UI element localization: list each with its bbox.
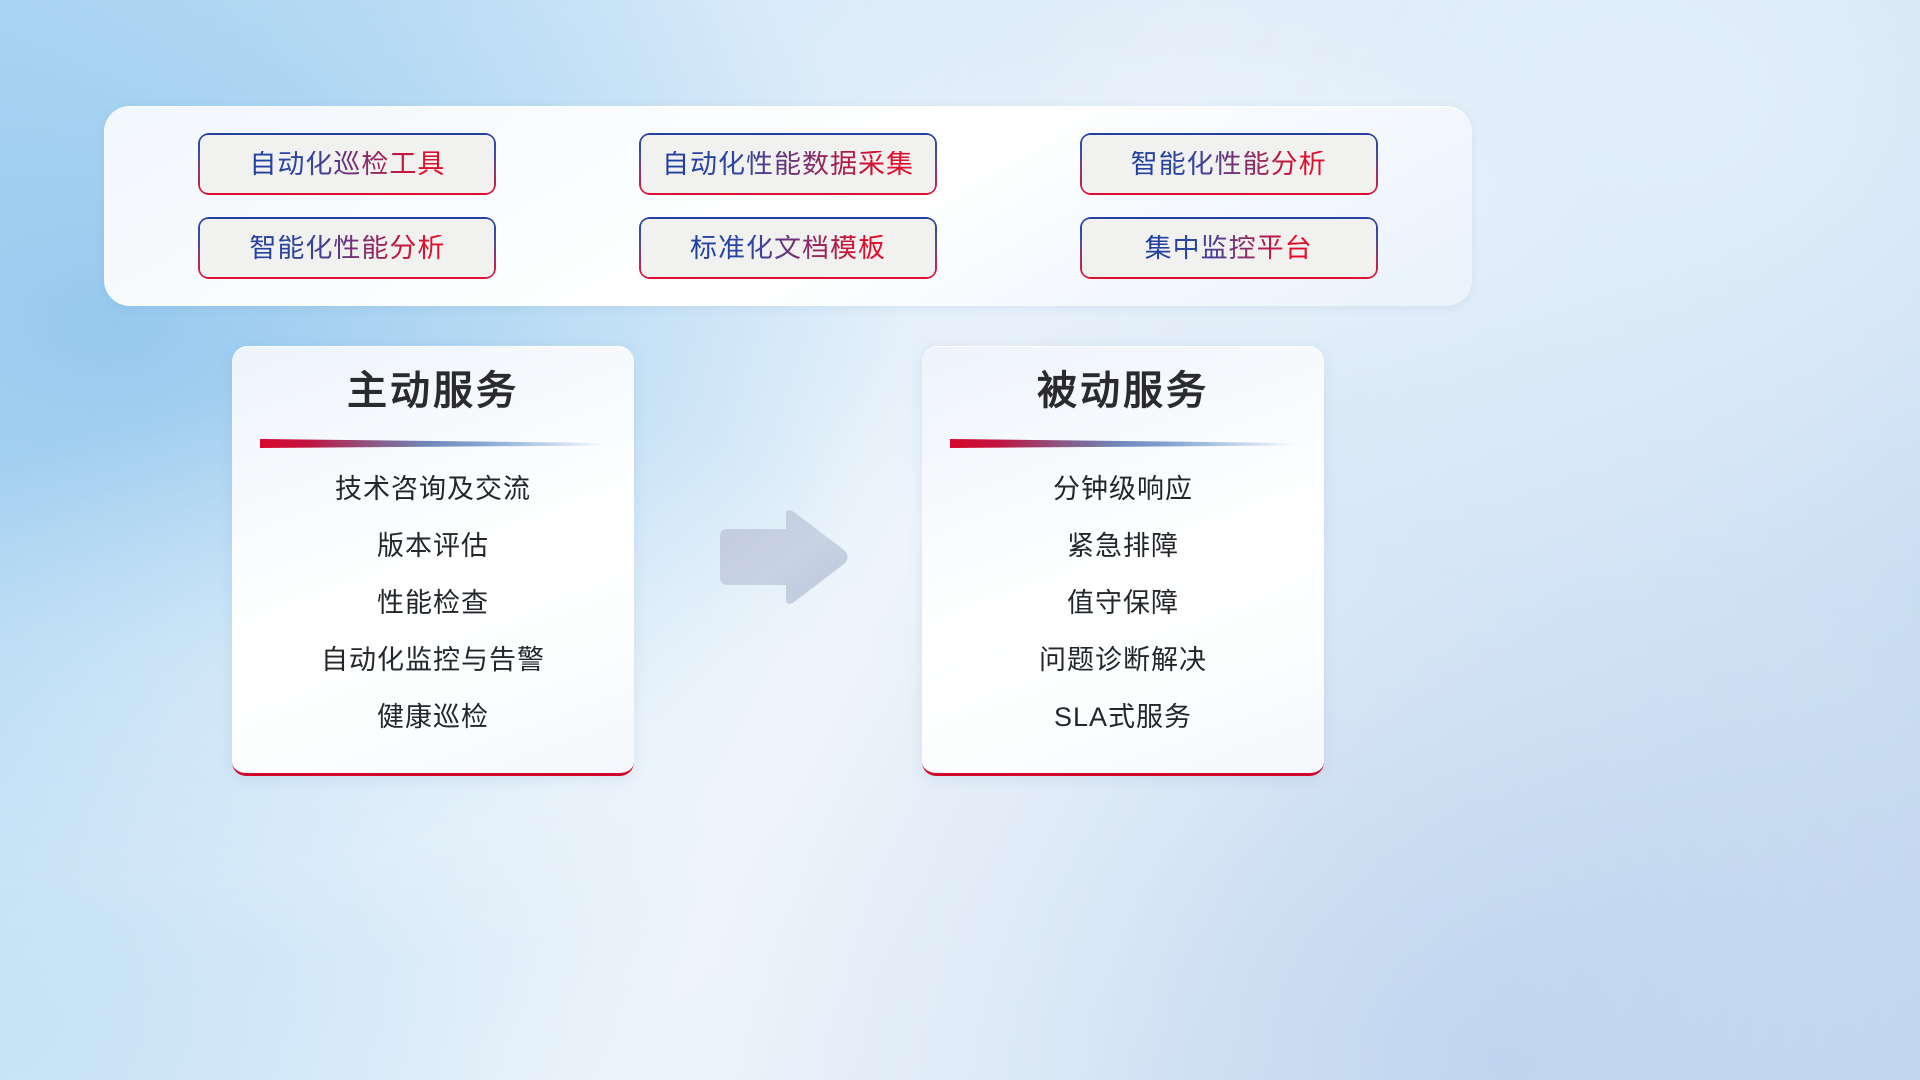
gradient-bar	[950, 439, 1296, 448]
list-item: 版本评估	[377, 533, 489, 560]
capability-pill-5[interactable]: 标准化文档模板	[641, 219, 935, 277]
service-card-reactive-divider	[950, 439, 1296, 448]
list-item: 技术咨询及交流	[335, 476, 531, 503]
capability-panel: 自动化巡检工具 自动化性能数据采集 智能化性能分析 智能化性能分析	[104, 106, 1472, 306]
capability-pill-5-label: 标准化文档模板	[690, 235, 886, 262]
service-card-proactive: 主动服务 技术咨询及交流 版本评估 性能检查 自动化监控与告警 健康巡检	[232, 346, 634, 776]
service-card-proactive-list: 技术咨询及交流 版本评估 性能检查 自动化监控与告警 健康巡检	[232, 476, 634, 731]
capability-pill-1[interactable]: 自动化巡检工具	[200, 135, 494, 193]
capability-pill-1-inner: 自动化巡检工具	[200, 135, 494, 193]
list-item: 自动化监控与告警	[321, 647, 545, 674]
infographic-canvas: 自动化巡检工具 自动化性能数据采集 智能化性能分析 智能化性能分析	[0, 0, 1920, 1080]
capability-pill-5-inner: 标准化文档模板	[641, 219, 935, 277]
capability-pill-2-label: 自动化性能数据采集	[662, 151, 914, 178]
service-card-reactive: 被动服务 分钟级响应 紧急排障 值守保障 问题诊断解决 SLA式服务	[922, 346, 1324, 776]
capability-pill-3[interactable]: 智能化性能分析	[1082, 135, 1376, 193]
list-item: 健康巡检	[377, 704, 489, 731]
service-card-reactive-list: 分钟级响应 紧急排障 值守保障 问题诊断解决 SLA式服务	[922, 476, 1324, 731]
list-item: 问题诊断解决	[1039, 647, 1207, 674]
list-item: 值守保障	[1067, 590, 1179, 617]
list-item: 紧急排障	[1067, 533, 1179, 560]
capability-pill-6[interactable]: 集中监控平台	[1082, 219, 1376, 277]
capability-pill-6-inner: 集中监控平台	[1082, 219, 1376, 277]
capability-pill-1-label: 自动化巡检工具	[249, 151, 445, 178]
capability-pill-4-inner: 智能化性能分析	[200, 219, 494, 277]
capability-pill-3-label: 智能化性能分析	[1131, 151, 1327, 178]
capability-pill-6-label: 集中监控平台	[1145, 235, 1313, 262]
capability-pill-3-inner: 智能化性能分析	[1082, 135, 1376, 193]
capability-pill-4[interactable]: 智能化性能分析	[200, 219, 494, 277]
list-item: 性能检查	[377, 590, 489, 617]
gradient-bar	[260, 439, 606, 448]
service-card-proactive-divider	[260, 439, 606, 448]
capability-pill-grid: 自动化巡检工具 自动化性能数据采集 智能化性能分析 智能化性能分析	[104, 106, 1472, 306]
arrow-right-icon	[714, 507, 850, 607]
capability-pill-2[interactable]: 自动化性能数据采集	[641, 135, 935, 193]
service-card-proactive-title: 主动服务	[232, 371, 634, 411]
list-item: 分钟级响应	[1053, 476, 1193, 503]
service-card-reactive-title: 被动服务	[922, 371, 1324, 411]
capability-pill-4-label: 智能化性能分析	[249, 235, 445, 262]
capability-pill-2-inner: 自动化性能数据采集	[641, 135, 935, 193]
list-item: SLA式服务	[1054, 704, 1192, 731]
